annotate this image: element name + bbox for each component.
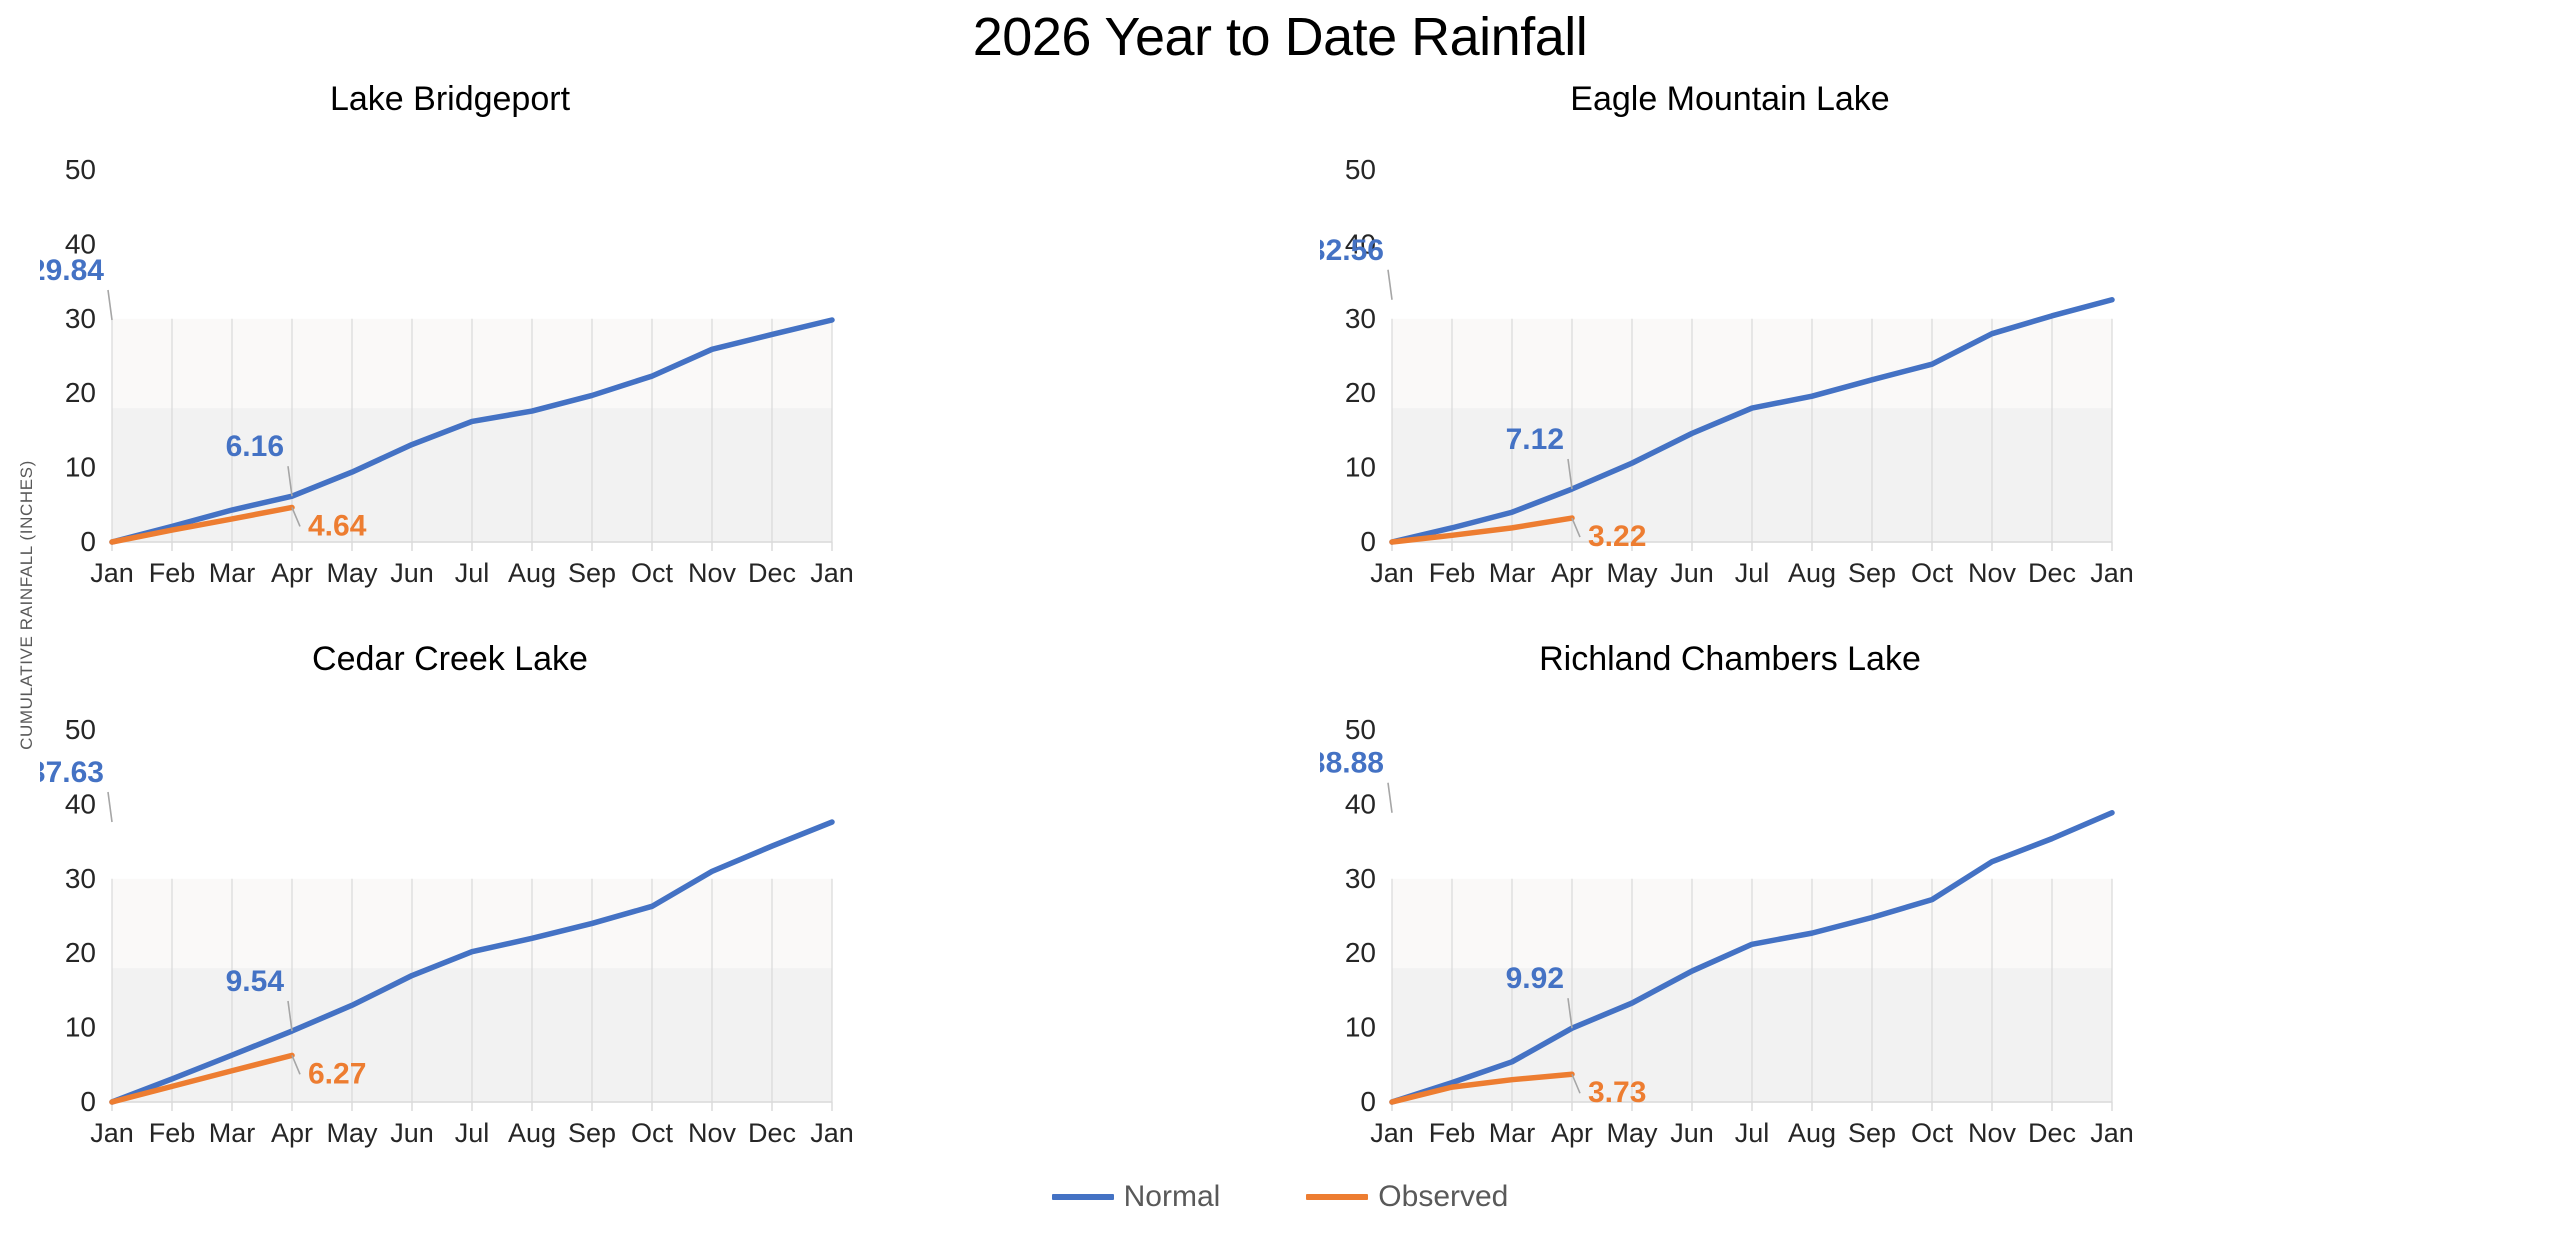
- svg-text:Oct: Oct: [1911, 558, 1954, 588]
- svg-text:Jan: Jan: [90, 1118, 134, 1148]
- svg-text:3.73: 3.73: [1588, 1076, 1646, 1109]
- svg-text:Feb: Feb: [149, 1118, 196, 1148]
- chart-title: Richland Chambers Lake: [1320, 640, 2140, 679]
- svg-text:Jan: Jan: [810, 1118, 854, 1148]
- chart-panel-cedar-creek-lake: Cedar Creek Lake 01020304050JanFebMarApr…: [40, 640, 860, 1180]
- svg-text:20: 20: [65, 377, 96, 408]
- line-chart-svg: 01020304050JanFebMarAprMayJunJulAugSepOc…: [40, 688, 860, 1180]
- chart-plot-area: 01020304050JanFebMarAprMayJunJulAugSepOc…: [1320, 688, 2140, 1180]
- svg-text:0: 0: [80, 1086, 96, 1117]
- svg-text:Nov: Nov: [688, 558, 737, 588]
- svg-text:7.12: 7.12: [1506, 423, 1564, 456]
- svg-text:Aug: Aug: [508, 558, 556, 588]
- svg-text:Jan: Jan: [810, 558, 854, 588]
- chart-title: Eagle Mountain Lake: [1320, 80, 2140, 119]
- page-title: 2026 Year to Date Rainfall: [0, 6, 2560, 68]
- svg-text:Sep: Sep: [1848, 558, 1896, 588]
- svg-text:Apr: Apr: [271, 1118, 313, 1148]
- svg-text:Aug: Aug: [508, 1118, 556, 1148]
- svg-text:Mar: Mar: [1489, 1118, 1536, 1148]
- svg-text:Oct: Oct: [1911, 1118, 1954, 1148]
- legend-item-normal: Normal: [1052, 1180, 1221, 1214]
- svg-text:3.22: 3.22: [1588, 520, 1646, 553]
- chart-panel-lake-bridgeport: Lake Bridgeport 01020304050JanFebMarAprM…: [40, 80, 860, 620]
- svg-text:Nov: Nov: [1968, 1118, 2017, 1148]
- svg-text:50: 50: [65, 714, 96, 745]
- svg-text:Apr: Apr: [1551, 1118, 1593, 1148]
- svg-text:37.63: 37.63: [40, 756, 104, 789]
- svg-text:Oct: Oct: [631, 558, 674, 588]
- svg-text:Dec: Dec: [2028, 558, 2076, 588]
- svg-text:Dec: Dec: [748, 558, 796, 588]
- svg-text:Nov: Nov: [688, 1118, 737, 1148]
- line-chart-svg: 01020304050JanFebMarAprMayJunJulAugSepOc…: [1320, 688, 2140, 1180]
- svg-text:Jul: Jul: [1735, 558, 1770, 588]
- svg-text:20: 20: [1345, 377, 1376, 408]
- svg-text:Oct: Oct: [631, 1118, 674, 1148]
- legend-label-observed: Observed: [1378, 1180, 1508, 1214]
- svg-text:50: 50: [1345, 154, 1376, 185]
- y-axis-title: CUMULATIVE RAINFALL (INCHES): [17, 385, 37, 825]
- svg-text:Mar: Mar: [209, 558, 256, 588]
- svg-text:0: 0: [1360, 526, 1376, 557]
- legend-swatch-observed: [1306, 1194, 1368, 1200]
- svg-text:May: May: [326, 558, 378, 588]
- svg-text:4.64: 4.64: [308, 509, 367, 542]
- svg-text:Nov: Nov: [1968, 558, 2017, 588]
- svg-text:10: 10: [65, 1012, 96, 1043]
- legend-label-normal: Normal: [1124, 1180, 1221, 1214]
- svg-text:20: 20: [1345, 937, 1376, 968]
- svg-text:6.27: 6.27: [308, 1057, 366, 1090]
- svg-text:Apr: Apr: [271, 558, 313, 588]
- svg-text:20: 20: [65, 937, 96, 968]
- svg-text:50: 50: [1345, 714, 1376, 745]
- chart-title: Cedar Creek Lake: [40, 640, 860, 679]
- svg-text:Sep: Sep: [568, 558, 616, 588]
- legend-swatch-normal: [1052, 1194, 1114, 1200]
- svg-text:Feb: Feb: [149, 558, 196, 588]
- svg-text:Jan: Jan: [1370, 558, 1414, 588]
- svg-text:Jun: Jun: [1670, 558, 1714, 588]
- chart-legend: Normal Observed: [0, 1180, 2560, 1214]
- svg-text:Jul: Jul: [455, 558, 490, 588]
- svg-text:Jun: Jun: [1670, 1118, 1714, 1148]
- svg-text:0: 0: [80, 526, 96, 557]
- svg-text:30: 30: [65, 303, 96, 334]
- svg-text:Jan: Jan: [2090, 558, 2134, 588]
- svg-text:10: 10: [1345, 452, 1376, 483]
- svg-text:40: 40: [65, 788, 96, 819]
- svg-text:Jan: Jan: [90, 558, 134, 588]
- svg-text:32.56: 32.56: [1320, 234, 1384, 267]
- svg-text:9.54: 9.54: [226, 965, 285, 998]
- line-chart-svg: 01020304050JanFebMarAprMayJunJulAugSepOc…: [40, 128, 860, 620]
- svg-text:40: 40: [1345, 788, 1376, 819]
- svg-text:Aug: Aug: [1788, 558, 1836, 588]
- svg-text:Feb: Feb: [1429, 1118, 1476, 1148]
- svg-text:30: 30: [65, 863, 96, 894]
- svg-text:Jan: Jan: [2090, 1118, 2134, 1148]
- svg-text:6.16: 6.16: [226, 430, 284, 463]
- svg-text:Feb: Feb: [1429, 558, 1476, 588]
- svg-text:10: 10: [65, 452, 96, 483]
- svg-text:Apr: Apr: [1551, 558, 1593, 588]
- svg-text:Jun: Jun: [390, 1118, 434, 1148]
- chart-title: Lake Bridgeport: [40, 80, 860, 119]
- svg-text:Jul: Jul: [1735, 1118, 1770, 1148]
- svg-text:0: 0: [1360, 1086, 1376, 1117]
- svg-text:Jul: Jul: [455, 1118, 490, 1148]
- rainfall-dashboard: 2026 Year to Date Rainfall CUMULATIVE RA…: [0, 0, 2560, 1239]
- svg-text:10: 10: [1345, 1012, 1376, 1043]
- svg-text:Sep: Sep: [568, 1118, 616, 1148]
- legend-item-observed: Observed: [1306, 1180, 1508, 1214]
- svg-text:Dec: Dec: [748, 1118, 796, 1148]
- svg-text:30: 30: [1345, 863, 1376, 894]
- svg-text:May: May: [1606, 558, 1658, 588]
- chart-plot-area: 01020304050JanFebMarAprMayJunJulAugSepOc…: [1320, 128, 2140, 620]
- svg-text:50: 50: [65, 154, 96, 185]
- svg-text:May: May: [1606, 1118, 1658, 1148]
- svg-text:29.84: 29.84: [40, 254, 104, 287]
- svg-text:Jan: Jan: [1370, 1118, 1414, 1148]
- svg-text:Dec: Dec: [2028, 1118, 2076, 1148]
- svg-text:38.88: 38.88: [1320, 747, 1384, 780]
- line-chart-svg: 01020304050JanFebMarAprMayJunJulAugSepOc…: [1320, 128, 2140, 620]
- svg-text:Aug: Aug: [1788, 1118, 1836, 1148]
- svg-text:May: May: [326, 1118, 378, 1148]
- chart-plot-area: 01020304050JanFebMarAprMayJunJulAugSepOc…: [40, 128, 860, 620]
- chart-panel-richland-chambers-lake: Richland Chambers Lake 01020304050JanFeb…: [1320, 640, 2140, 1180]
- svg-text:30: 30: [1345, 303, 1376, 334]
- chart-plot-area: 01020304050JanFebMarAprMayJunJulAugSepOc…: [40, 688, 860, 1180]
- svg-text:9.92: 9.92: [1506, 962, 1564, 995]
- svg-text:Mar: Mar: [209, 1118, 256, 1148]
- svg-text:Jun: Jun: [390, 558, 434, 588]
- svg-text:Sep: Sep: [1848, 1118, 1896, 1148]
- chart-panel-eagle-mountain-lake: Eagle Mountain Lake 01020304050JanFebMar…: [1320, 80, 2140, 620]
- svg-text:Mar: Mar: [1489, 558, 1536, 588]
